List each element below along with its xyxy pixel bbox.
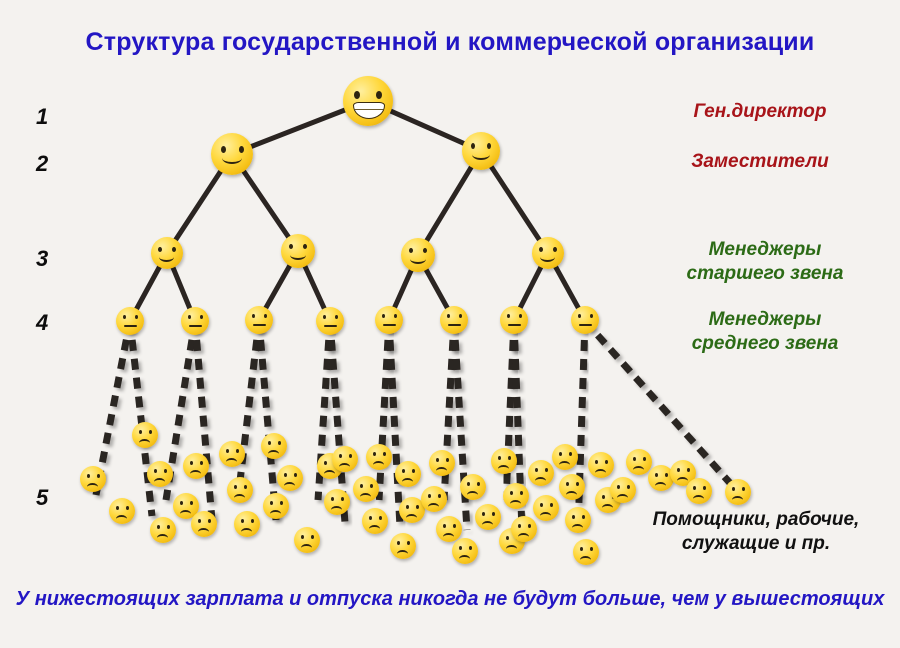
smiley-frown-icon xyxy=(421,486,447,512)
mouth-frown xyxy=(693,495,704,503)
mouth-frown xyxy=(559,461,570,469)
level-number-5: 5 xyxy=(36,485,48,511)
dashed-connector xyxy=(195,321,212,520)
eye-left xyxy=(241,519,244,523)
eye-right xyxy=(383,452,386,456)
smiley-frown-icon xyxy=(511,516,537,542)
eye-right xyxy=(379,516,382,520)
smiley-frown-icon xyxy=(725,479,751,505)
mouth-frown xyxy=(270,510,281,518)
mouth-neutral xyxy=(383,324,396,326)
smiley-smile-icon xyxy=(532,237,564,269)
eye-left xyxy=(226,449,229,453)
mouth-neutral xyxy=(189,325,202,327)
smiley-frown-icon xyxy=(573,539,599,565)
eye-left xyxy=(732,487,735,491)
eye-right xyxy=(582,515,585,519)
eye-left xyxy=(566,482,569,486)
smiley-frown-icon xyxy=(353,476,379,502)
eye-right xyxy=(545,468,548,472)
eye-left xyxy=(339,454,342,458)
mouth-frown xyxy=(510,500,521,508)
eye-left xyxy=(602,495,605,499)
mouth-smile xyxy=(290,250,306,260)
mouth-frown xyxy=(360,493,371,501)
eye-left xyxy=(284,473,287,477)
mouth-frown xyxy=(402,478,413,486)
eye-right xyxy=(251,519,254,523)
eye-right xyxy=(149,430,152,434)
mouth-frown xyxy=(373,461,384,469)
dashed-connector xyxy=(454,321,467,530)
smiley-grin-icon xyxy=(343,76,393,126)
role-label-4: Менеджеры среднего звена xyxy=(640,308,890,356)
dashed-connector xyxy=(389,321,400,527)
smiley-smile-icon xyxy=(462,132,500,170)
eye-left xyxy=(180,501,183,505)
eye-right xyxy=(528,524,531,528)
eye-left xyxy=(397,541,400,545)
eye-left xyxy=(633,457,636,461)
eye-left xyxy=(354,91,360,99)
mouth-frown xyxy=(566,491,577,499)
eye-right xyxy=(164,469,167,473)
mouth-frown xyxy=(732,496,743,504)
dashed-connector xyxy=(238,321,259,498)
eye-right xyxy=(590,547,593,551)
eye-right xyxy=(376,91,382,99)
eye-right xyxy=(416,505,419,509)
eye-right xyxy=(703,486,706,490)
smiley-flat-icon xyxy=(116,307,144,335)
mouth-neutral xyxy=(448,324,461,326)
mouth-frown xyxy=(190,470,201,478)
eye-left xyxy=(482,512,485,516)
eye-right xyxy=(438,494,441,498)
smiley-frown-icon xyxy=(452,538,478,564)
smiley-frown-icon xyxy=(528,460,554,486)
eye-left xyxy=(190,461,193,465)
eye-left xyxy=(578,314,581,318)
eye-left xyxy=(595,460,598,464)
smiley-frown-icon xyxy=(362,508,388,534)
eye-left xyxy=(677,468,680,472)
level-number-2: 2 xyxy=(36,151,48,177)
eye-right xyxy=(423,248,427,253)
eye-left xyxy=(234,485,237,489)
eye-right xyxy=(742,487,745,491)
mouth-smile xyxy=(410,254,426,264)
mouth-smile xyxy=(222,152,242,164)
eye-right xyxy=(550,503,553,507)
role-label-5: Помощники, рабочие, служащие и пр. xyxy=(612,508,900,556)
eye-right xyxy=(590,314,593,318)
mouth-frown xyxy=(397,550,408,558)
eye-left xyxy=(402,469,405,473)
smiley-frown-icon xyxy=(324,489,350,515)
eye-right xyxy=(135,315,138,319)
eye-left xyxy=(331,497,334,501)
eye-left xyxy=(252,314,255,318)
diagram-canvas: Структура государственной и коммерческой… xyxy=(0,0,900,648)
mouth-frown xyxy=(268,450,279,458)
smiley-frown-icon xyxy=(503,483,529,509)
mouth-neutral xyxy=(253,324,266,326)
smiley-flat-icon xyxy=(375,306,403,334)
mouth-frown xyxy=(180,510,191,518)
eye-left xyxy=(116,506,119,510)
smiley-frown-icon xyxy=(277,465,303,491)
eye-left xyxy=(518,524,521,528)
eye-left xyxy=(324,461,327,465)
eye-left xyxy=(157,525,160,529)
role-label-2: Заместители xyxy=(640,150,880,174)
smiley-frown-icon xyxy=(261,433,287,459)
smiley-frown-icon xyxy=(147,461,173,487)
smiley-frown-icon xyxy=(626,449,652,475)
eye-right xyxy=(576,482,579,486)
mouth-frown xyxy=(540,512,551,520)
mouth-neutral xyxy=(579,324,592,326)
mouth-frown xyxy=(595,469,606,477)
mouth-neutral xyxy=(508,324,521,326)
mouth-smile xyxy=(159,252,174,262)
level-number-4: 4 xyxy=(36,310,48,336)
mouth-neutral xyxy=(324,325,337,327)
smiley-smile-icon xyxy=(281,234,315,268)
eye-left xyxy=(506,536,509,540)
eye-left xyxy=(323,315,326,319)
smiley-frown-icon xyxy=(263,493,289,519)
smiley-flat-icon xyxy=(571,306,599,334)
eye-right xyxy=(311,535,314,539)
smiley-frown-icon xyxy=(610,477,636,503)
eye-left xyxy=(154,469,157,473)
mouth-frown xyxy=(198,528,209,536)
eye-left xyxy=(289,244,293,249)
eye-right xyxy=(520,491,523,495)
mouth-frown xyxy=(443,533,454,541)
smiley-frown-icon xyxy=(460,474,486,500)
smiley-frown-icon xyxy=(366,444,392,470)
mouth-frown xyxy=(655,482,666,490)
eye-left xyxy=(572,515,575,519)
eye-left xyxy=(123,315,126,319)
smiley-frown-icon xyxy=(183,453,209,479)
smiley-frown-icon xyxy=(294,527,320,553)
eye-right xyxy=(407,541,410,545)
mouth-frown xyxy=(459,555,470,563)
eye-right xyxy=(477,482,480,486)
mouth-frown xyxy=(498,465,509,473)
eye-left xyxy=(428,494,431,498)
eye-right xyxy=(200,315,203,319)
mouth-frown xyxy=(617,494,628,502)
mouth-frown xyxy=(234,494,245,502)
dashed-connector xyxy=(130,321,152,516)
eye-left xyxy=(436,458,439,462)
eye-left xyxy=(270,501,273,505)
eye-left xyxy=(369,516,372,520)
smiley-frown-icon xyxy=(429,450,455,476)
mouth-frown xyxy=(139,439,150,447)
eye-left xyxy=(409,248,413,253)
mouth-frown xyxy=(157,534,168,542)
eye-right xyxy=(97,474,100,478)
mouth-frown xyxy=(241,528,252,536)
mouth-frown xyxy=(339,463,350,471)
eye-right xyxy=(264,314,267,318)
smiley-frown-icon xyxy=(559,474,585,500)
role-label-3: Менеджеры старшего звена xyxy=(640,238,890,286)
eye-right xyxy=(370,484,373,488)
dashed-connector xyxy=(578,321,585,530)
eye-right xyxy=(643,457,646,461)
smiley-flat-icon xyxy=(181,307,209,335)
mouth-frown xyxy=(482,521,493,529)
eye-right xyxy=(459,314,462,318)
mouth-frown xyxy=(369,525,380,533)
eye-left xyxy=(139,430,142,434)
eye-right xyxy=(469,546,472,550)
mouth-frown xyxy=(436,467,447,475)
smiley-frown-icon xyxy=(552,444,578,470)
smiley-flat-icon xyxy=(500,306,528,334)
eye-right xyxy=(341,497,344,501)
smiley-frown-icon xyxy=(491,448,517,474)
eye-right xyxy=(280,501,283,505)
eye-left xyxy=(498,456,501,460)
eye-right xyxy=(687,468,690,472)
smiley-frown-icon xyxy=(332,446,358,472)
smiley-frown-icon xyxy=(132,422,158,448)
mouth-grin xyxy=(353,102,385,119)
level-number-1: 1 xyxy=(36,104,48,130)
mouth-frown xyxy=(116,515,127,523)
solid-edges-group xyxy=(130,101,585,321)
smiley-frown-icon xyxy=(109,498,135,524)
eye-left xyxy=(360,484,363,488)
smiley-flat-icon xyxy=(316,307,344,335)
eye-right xyxy=(190,501,193,505)
eye-left xyxy=(617,485,620,489)
eye-left xyxy=(406,505,409,509)
eye-right xyxy=(200,461,203,465)
mouth-frown xyxy=(580,556,591,564)
mouth-frown xyxy=(633,466,644,474)
eye-left xyxy=(198,519,201,523)
mouth-frown xyxy=(535,477,546,485)
eye-right xyxy=(278,441,281,445)
eye-right xyxy=(446,458,449,462)
mouth-frown xyxy=(518,533,529,541)
eye-right xyxy=(627,485,630,489)
smiley-flat-icon xyxy=(440,306,468,334)
smiley-smile-icon xyxy=(401,238,435,272)
mouth-frown xyxy=(284,482,295,490)
eye-left xyxy=(559,452,562,456)
mouth-smile xyxy=(472,149,490,160)
smiley-frown-icon xyxy=(227,477,253,503)
smiley-frown-icon xyxy=(533,495,559,521)
eye-left xyxy=(535,468,538,472)
eye-left xyxy=(693,486,696,490)
eye-right xyxy=(453,524,456,528)
mouth-frown xyxy=(324,470,335,478)
mouth-frown xyxy=(677,477,688,485)
level-number-3: 3 xyxy=(36,246,48,272)
mouth-frown xyxy=(406,514,417,522)
eye-left xyxy=(540,503,543,507)
eye-left xyxy=(510,491,513,495)
eye-right xyxy=(126,506,129,510)
smiley-frown-icon xyxy=(234,511,260,537)
smiley-smile-icon xyxy=(151,237,183,269)
mouth-frown xyxy=(506,545,517,553)
eye-right xyxy=(394,314,397,318)
mouth-frown xyxy=(154,478,165,486)
smiley-frown-icon xyxy=(395,461,421,487)
eye-left xyxy=(655,473,658,477)
smiley-smile-icon xyxy=(211,133,253,175)
smiley-frown-icon xyxy=(80,466,106,492)
mouth-neutral xyxy=(124,325,137,327)
role-label-1: Ген.директор xyxy=(640,100,880,124)
smiley-frown-icon xyxy=(565,507,591,533)
eye-right xyxy=(412,469,415,473)
mouth-smile xyxy=(540,252,555,262)
smiley-frown-icon xyxy=(686,478,712,504)
eye-right xyxy=(335,315,338,319)
smiley-frown-icon xyxy=(588,452,614,478)
eye-right xyxy=(303,244,307,249)
smiley-frown-icon xyxy=(436,516,462,542)
smiley-frown-icon xyxy=(390,533,416,559)
eye-right xyxy=(167,525,170,529)
eye-left xyxy=(507,314,510,318)
mouth-frown xyxy=(87,483,98,491)
eye-right xyxy=(236,449,239,453)
mouth-frown xyxy=(301,544,312,552)
eye-right xyxy=(508,456,511,460)
smiley-frown-icon xyxy=(219,441,245,467)
smiley-flat-icon xyxy=(245,306,273,334)
eye-left xyxy=(459,546,462,550)
eye-left xyxy=(443,524,446,528)
mouth-frown xyxy=(467,491,478,499)
eye-left xyxy=(268,441,271,445)
eye-right xyxy=(492,512,495,516)
eye-right xyxy=(519,314,522,318)
footer-caption: У нижестоящих зарплата и отпуска никогда… xyxy=(0,586,900,613)
eye-left xyxy=(447,314,450,318)
smiley-frown-icon xyxy=(191,511,217,537)
eye-right xyxy=(665,473,668,477)
eye-right xyxy=(208,519,211,523)
eye-left xyxy=(373,452,376,456)
eye-left xyxy=(580,547,583,551)
smiley-frown-icon xyxy=(475,504,501,530)
eye-right xyxy=(605,460,608,464)
smiley-frown-icon xyxy=(150,517,176,543)
eye-left xyxy=(467,482,470,486)
eye-right xyxy=(349,454,352,458)
mouth-frown xyxy=(331,506,342,514)
eye-left xyxy=(188,315,191,319)
eye-right xyxy=(244,485,247,489)
eye-left xyxy=(301,535,304,539)
eye-right xyxy=(294,473,297,477)
mouth-frown xyxy=(572,524,583,532)
dashed-connector xyxy=(259,321,276,520)
eye-right xyxy=(569,452,572,456)
eye-left xyxy=(87,474,90,478)
mouth-frown xyxy=(226,458,237,466)
mouth-frown xyxy=(428,503,439,511)
eye-left xyxy=(382,314,385,318)
